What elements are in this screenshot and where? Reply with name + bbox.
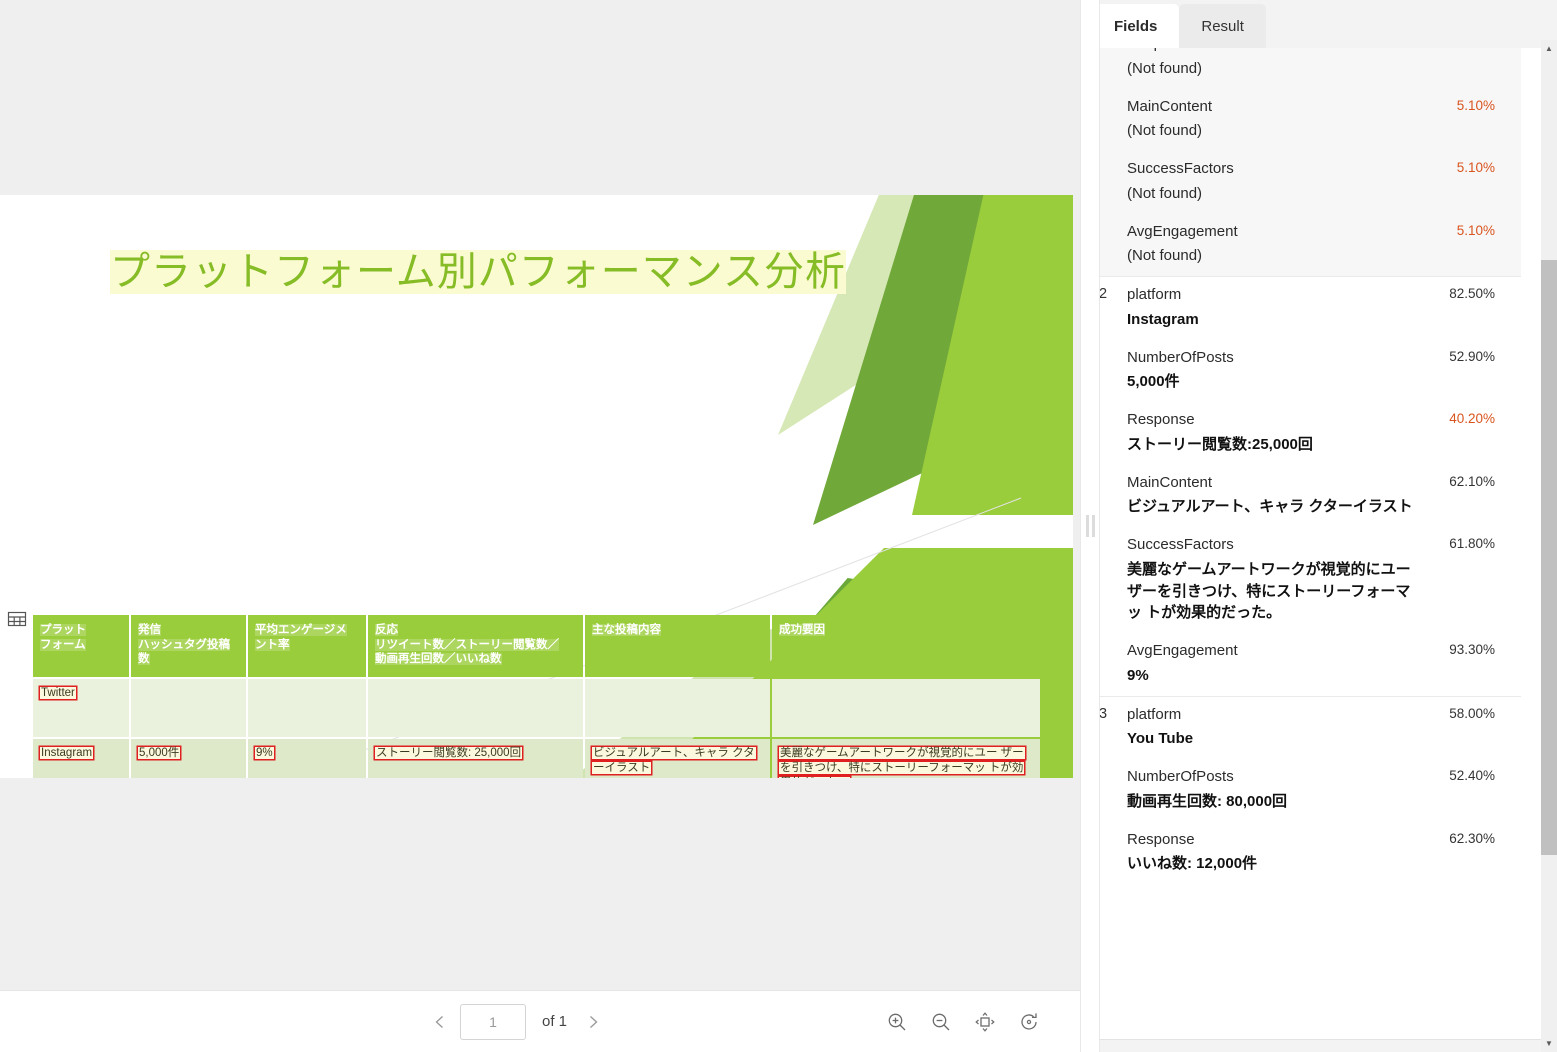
field-value: You Tube [1127,728,1495,750]
field-row-successfactors[interactable]: SuccessFactors61.80%美麗なゲームアートワークが視覚的にユー … [1081,527,1521,633]
ocr-text-box: ストーリー閲覧数: 25,000回 [375,747,522,759]
field-key: platform [1127,286,1495,305]
field-confidence: 62.10% [1449,474,1495,489]
th-text: 平均エンゲージメント率 [255,624,347,651]
table-cell-success [772,679,1040,737]
scrollbar-thumb[interactable] [1541,260,1557,855]
field-row-maincontent[interactable]: MainContent5.10%(Not found) [1081,89,1521,152]
chevron-right-icon[interactable] [577,1006,609,1038]
zoom-out-icon[interactable] [926,1007,956,1037]
th-text: プラットフォーム [40,624,86,651]
field-value: 動画再生回数: 80,000回 [1127,791,1495,813]
field-group: 3platform58.00%You TubeNumberOfPosts52.4… [1081,697,1521,885]
table-cell-posts [131,679,246,737]
field-value: (Not found) [1127,245,1495,267]
field-key: platform [1127,706,1495,725]
ocr-text-box: 5,000件 [138,747,180,759]
table-cell-reaction: ストーリー閲覧数: 25,000回 [368,739,583,778]
zoom-controls [882,1007,1044,1037]
field-key: Response [1127,831,1495,850]
table-col-reaction: 反応リツイート数／ストーリー閲覧数／動画再生回数／いいね数 [368,615,583,677]
field-confidence: 5.10% [1457,223,1495,238]
page-total-label: of 1 [542,1013,567,1030]
tab-result[interactable]: Result [1179,4,1266,48]
table-cell-content: ビジュアルアート、キャラ クターイラスト [585,739,770,778]
table-cell-engagement: 9% [248,739,366,778]
slide-table-head: プラットフォーム 発信ハッシュタグ投稿数 平均エンゲージメント率 反応リツイート… [33,615,1040,677]
th-text: 発信ハッシュタグ投稿数 [138,624,230,665]
field-confidence: 93.30% [1449,642,1495,657]
table-cell-platform: Twitter [33,679,129,737]
panel-splitter[interactable] [1080,0,1100,1052]
th-text: 主な投稿内容 [592,624,661,636]
group-index: 3 [1099,706,1107,722]
field-value: (Not found) [1127,58,1495,80]
field-key: NumberOfPosts [1127,768,1495,787]
th-text: 反応リツイート数／ストーリー閲覧数／動画再生回数／いいね数 [375,624,559,665]
table-cell-platform: Instagram [33,739,129,778]
document-canvas[interactable]: プラットフォーム別パフォーマンス分析 [0,0,1080,990]
fit-to-page-icon[interactable] [970,1007,1000,1037]
field-confidence: 62.30% [1449,831,1495,846]
field-value: (Not found) [1127,120,1495,142]
field-row-successfactors[interactable]: SuccessFactors5.10%(Not found) [1081,151,1521,214]
field-row-platform[interactable]: 2platform82.50%Instagram [1081,277,1521,340]
field-row-response[interactable]: Response(Not found) [1081,48,1521,89]
field-confidence: 82.50% [1449,286,1495,301]
chevron-left-icon[interactable] [424,1006,456,1038]
field-row-response[interactable]: Response40.20%ストーリー閲覧数:25,000回 [1081,402,1521,465]
fields-list-container[interactable]: Response(Not found)MainContent5.10%(Not … [1080,48,1557,1040]
fields-scrollbar[interactable]: ▲ ▼ [1541,40,1557,1052]
table-cell-success: 美麗なゲームアートワークが視覚的にユー ザーを引きつけ、特にストーリーフォーマッ… [772,739,1040,778]
field-row-numberofposts[interactable]: NumberOfPosts52.40%動画再生回数: 80,000回 [1081,759,1521,822]
table-col-success: 成功要因 [772,615,1040,677]
field-value: ストーリー閲覧数:25,000回 [1127,434,1495,456]
slide-table: プラットフォーム 発信ハッシュタグ投稿数 平均エンゲージメント率 反応リツイート… [31,613,1042,778]
field-key: SuccessFactors [1127,160,1495,179]
field-value: 美麗なゲームアートワークが視覚的にユー ザーを引きつけ、特にストーリーフォーマッ… [1127,559,1495,624]
table-col-content: 主な投稿内容 [585,615,770,677]
field-row-maincontent[interactable]: MainContent62.10%ビジュアルアート、キャラ クターイラスト [1081,465,1521,528]
field-confidence: 40.20% [1449,411,1495,426]
table-row: Twitter [33,679,1040,737]
scroll-up-arrow-icon[interactable]: ▲ [1541,40,1557,57]
ocr-text-box: Twitter [40,687,76,699]
field-key: Response [1127,48,1495,54]
field-row-platform[interactable]: 3platform58.00%You Tube [1081,697,1521,760]
tab-fields[interactable]: Fields [1092,4,1179,48]
field-key: AvgEngagement [1127,223,1495,242]
field-value: (Not found) [1127,183,1495,205]
field-confidence: 58.00% [1449,706,1495,721]
ocr-text-box: 9% [255,747,274,759]
field-key: NumberOfPosts [1127,349,1495,368]
field-row-response[interactable]: Response62.30%いいね数: 12,000件 [1081,822,1521,885]
table-cell-reaction [368,679,583,737]
field-key: MainContent [1127,474,1495,493]
field-group: Response(Not found)MainContent5.10%(Not … [1081,48,1521,277]
field-value: いいね数: 12,000件 [1127,853,1495,875]
page-number-input[interactable] [460,1004,526,1040]
scroll-down-arrow-icon[interactable]: ▼ [1541,1035,1557,1052]
field-group: 2platform82.50%InstagramNumberOfPosts52.… [1081,277,1521,697]
page-navigation: of 1 [424,1004,609,1040]
field-confidence: 5.10% [1457,160,1495,175]
rotate-icon[interactable] [1014,1007,1044,1037]
document-viewer: プラットフォーム別パフォーマンス分析 [0,0,1080,1052]
table-cell-engagement [248,679,366,737]
table-handle-icon[interactable] [6,608,28,630]
table-cell-content [585,679,770,737]
ocr-text-box: 美麗なゲームアートワークが視覚的にユー ザーを引きつけ、特にストーリーフォーマッ… [779,747,1025,778]
field-key: MainContent [1127,98,1495,117]
field-value: 9% [1127,665,1495,687]
table-header-row: プラットフォーム 発信ハッシュタグ投稿数 平均エンゲージメント率 反応リツイート… [33,615,1040,677]
field-key: AvgEngagement [1127,642,1495,661]
field-confidence: 61.80% [1449,536,1495,551]
field-value: 5,000件 [1127,371,1495,393]
table-cell-posts: 5,000件 [131,739,246,778]
th-text: 成功要因 [779,624,825,636]
slide-title-text: プラットフォーム別パフォーマンス分析 [110,250,846,294]
fields-panel: FieldsResult Response(Not found)MainCont… [1080,0,1557,1052]
zoom-in-icon[interactable] [882,1007,912,1037]
field-key: SuccessFactors [1127,536,1495,555]
viewer-toolbar: of 1 [0,990,1080,1052]
table-row: Instagram5,000件9%ストーリー閲覧数: 25,000回ビジュアルア… [33,739,1040,778]
field-key: Response [1127,411,1495,430]
ocr-text-box: ビジュアルアート、キャラ クターイラスト [592,747,756,774]
table-col-posts: 発信ハッシュタグ投稿数 [131,615,246,677]
field-confidence: 52.40% [1449,768,1495,783]
app-root: プラットフォーム別パフォーマンス分析 [0,0,1557,1052]
slide-title: プラットフォーム別パフォーマンス分析 [110,239,846,297]
field-value: ビジュアルアート、キャラ クターイラスト [1127,496,1495,518]
field-value: Instagram [1127,309,1495,331]
field-row-avgengagement[interactable]: AvgEngagement93.30%9% [1081,633,1521,696]
ocr-text-box: Instagram [40,747,93,759]
group-index: 2 [1099,286,1107,302]
field-row-numberofposts[interactable]: NumberOfPosts52.90%5,000件 [1081,340,1521,403]
table-col-engagement: 平均エンゲージメント率 [248,615,366,677]
field-confidence: 52.90% [1449,349,1495,364]
field-row-avgengagement[interactable]: AvgEngagement5.10%(Not found) [1081,214,1521,277]
slide-page: プラットフォーム別パフォーマンス分析 [0,195,1073,778]
field-confidence: 5.10% [1457,98,1495,113]
slide-table-body: TwitterInstagram5,000件9%ストーリー閲覧数: 25,000… [33,679,1040,778]
table-col-platform: プラットフォーム [33,615,129,677]
splitter-grip-icon [1086,515,1095,537]
fields-list: Response(Not found)MainContent5.10%(Not … [1081,48,1521,884]
panel-tabs: FieldsResult [1080,0,1557,48]
